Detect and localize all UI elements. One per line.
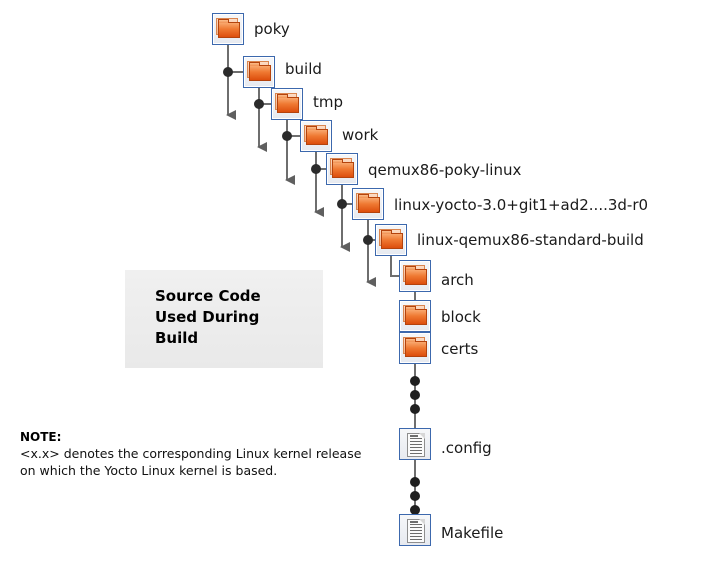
folder-icon bbox=[243, 56, 275, 88]
folder-icon bbox=[326, 153, 358, 185]
folder-icon bbox=[399, 260, 431, 292]
node-certs[interactable] bbox=[399, 332, 431, 364]
folder-icon bbox=[352, 188, 384, 220]
ellipsis-dot bbox=[410, 404, 420, 414]
source-code-callout: Source Code Used During Build bbox=[125, 270, 323, 368]
folder-icon bbox=[399, 300, 431, 332]
folder-icon-body bbox=[218, 22, 240, 38]
note-body: <x.x> denotes the corresponding Linux ke… bbox=[20, 445, 380, 479]
folder-icon-body bbox=[358, 197, 380, 213]
node-standard[interactable] bbox=[375, 224, 407, 256]
node-tmp[interactable] bbox=[271, 88, 303, 120]
node-label-build: build bbox=[285, 61, 322, 77]
node-label-poky: poky bbox=[254, 21, 290, 37]
folder-icon-body bbox=[332, 162, 354, 178]
diagram-canvas: pokybuildtmpworkqemux86-poky-linuxlinux-… bbox=[0, 0, 705, 581]
folder-icon-body bbox=[277, 97, 299, 113]
node-block[interactable] bbox=[399, 300, 431, 332]
file-icon bbox=[399, 428, 431, 460]
folder-icon-body bbox=[405, 269, 427, 285]
ellipsis-dot bbox=[410, 376, 420, 386]
node-label-tmp: tmp bbox=[313, 94, 343, 110]
node-label-standard: linux-qemux86-standard-build bbox=[417, 232, 644, 248]
note-title: NOTE: bbox=[20, 430, 380, 445]
node-label-block: block bbox=[441, 309, 481, 325]
folder-icon bbox=[375, 224, 407, 256]
node-label-config: .config bbox=[441, 440, 492, 456]
ellipsis-dot bbox=[410, 477, 420, 487]
file-icon-lines bbox=[410, 438, 422, 454]
folder-icon bbox=[271, 88, 303, 120]
note-block: NOTE: <x.x> denotes the corresponding Li… bbox=[20, 430, 380, 479]
folder-icon-body bbox=[405, 309, 427, 325]
file-icon bbox=[399, 514, 431, 546]
node-label-certs: certs bbox=[441, 341, 478, 357]
node-label-arch: arch bbox=[441, 272, 474, 288]
node-label-qemux86: qemux86-poky-linux bbox=[368, 162, 521, 178]
folder-icon-body bbox=[306, 129, 328, 145]
node-arch[interactable] bbox=[399, 260, 431, 292]
ellipsis-dot bbox=[410, 390, 420, 400]
folder-icon-body bbox=[249, 65, 271, 81]
folder-icon bbox=[212, 13, 244, 45]
folder-icon-body bbox=[381, 233, 403, 249]
node-label-makefile: Makefile bbox=[441, 525, 503, 541]
node-label-work: work bbox=[342, 127, 378, 143]
callout-text: Source Code Used During Build bbox=[155, 286, 261, 349]
node-makefile[interactable] bbox=[399, 514, 431, 546]
connector-lines bbox=[0, 0, 705, 581]
node-label-linuxyocto: linux-yocto-3.0+git1+ad2....3d-r0 bbox=[394, 197, 648, 213]
node-build[interactable] bbox=[243, 56, 275, 88]
node-linuxyocto[interactable] bbox=[352, 188, 384, 220]
node-config[interactable] bbox=[399, 428, 431, 460]
ellipsis-dot bbox=[410, 491, 420, 501]
folder-icon bbox=[399, 332, 431, 364]
node-poky[interactable] bbox=[212, 13, 244, 45]
folder-icon bbox=[300, 120, 332, 152]
node-qemux86[interactable] bbox=[326, 153, 358, 185]
node-work[interactable] bbox=[300, 120, 332, 152]
folder-icon-body bbox=[405, 341, 427, 357]
file-icon-lines bbox=[410, 524, 422, 540]
